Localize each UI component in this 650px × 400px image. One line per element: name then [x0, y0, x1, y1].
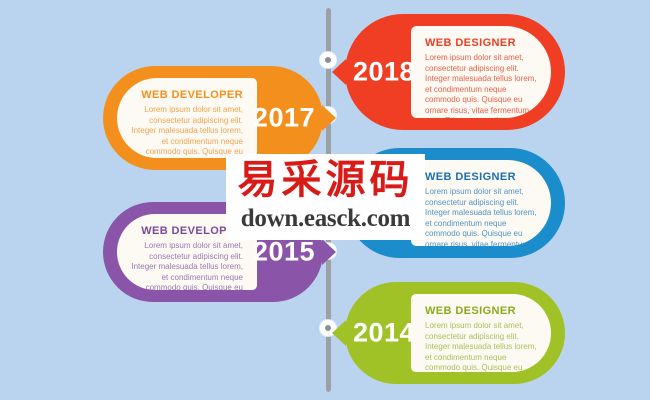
card-year-2018: 2018	[353, 59, 415, 86]
card-text-2017: Lorem ipsum dolor sit amet, consectetur …	[131, 105, 243, 158]
timeline-card-2018[interactable]: WEB DESIGNER Lorem ipsum dolor sit amet,…	[345, 14, 565, 130]
card-year-2015: 2015	[253, 239, 315, 266]
card-title-2016: WEB DESIGNER	[425, 171, 537, 183]
timeline-card-2014[interactable]: WEB DESIGNER Lorem ipsum dolor sit amet,…	[345, 282, 565, 384]
watermark-overlay: 易采源码 down.easck.com	[226, 154, 425, 240]
card-text-2014: Lorem ipsum dolor sit amet, consectetur …	[425, 321, 537, 372]
card-text-2015: Lorem ipsum dolor sit amet, consectetur …	[131, 241, 243, 290]
card-pointer-2018	[332, 59, 346, 85]
card-year-2017: 2017	[253, 105, 315, 132]
card-year-2014: 2014	[353, 320, 415, 347]
card-panel-2018: WEB DESIGNER Lorem ipsum dolor sit amet,…	[411, 26, 551, 118]
card-pointer-2015	[322, 239, 336, 265]
card-title-2018: WEB DESIGNER	[425, 37, 537, 49]
card-text-2018: Lorem ipsum dolor sit amet, consectetur …	[425, 53, 537, 118]
card-pointer-2017	[322, 105, 336, 131]
card-title-2014: WEB DESIGNER	[425, 305, 537, 317]
card-title-2017: WEB DEVELOPER	[131, 89, 243, 101]
card-panel-2016: WEB DESIGNER Lorem ipsum dolor sit amet,…	[411, 160, 551, 246]
card-panel-2017: WEB DEVELOPER Lorem ipsum dolor sit amet…	[117, 78, 257, 158]
watermark-chinese-text: 易采源码	[226, 157, 425, 203]
card-pointer-2014	[332, 320, 346, 346]
card-panel-2014: WEB DESIGNER Lorem ipsum dolor sit amet,…	[411, 294, 551, 372]
infographic-canvas: WEB DESIGNER Lorem ipsum dolor sit amet,…	[0, 0, 650, 400]
watermark-url-text: down.easck.com	[226, 204, 425, 234]
card-text-2016: Lorem ipsum dolor sit amet, consectetur …	[425, 187, 537, 246]
